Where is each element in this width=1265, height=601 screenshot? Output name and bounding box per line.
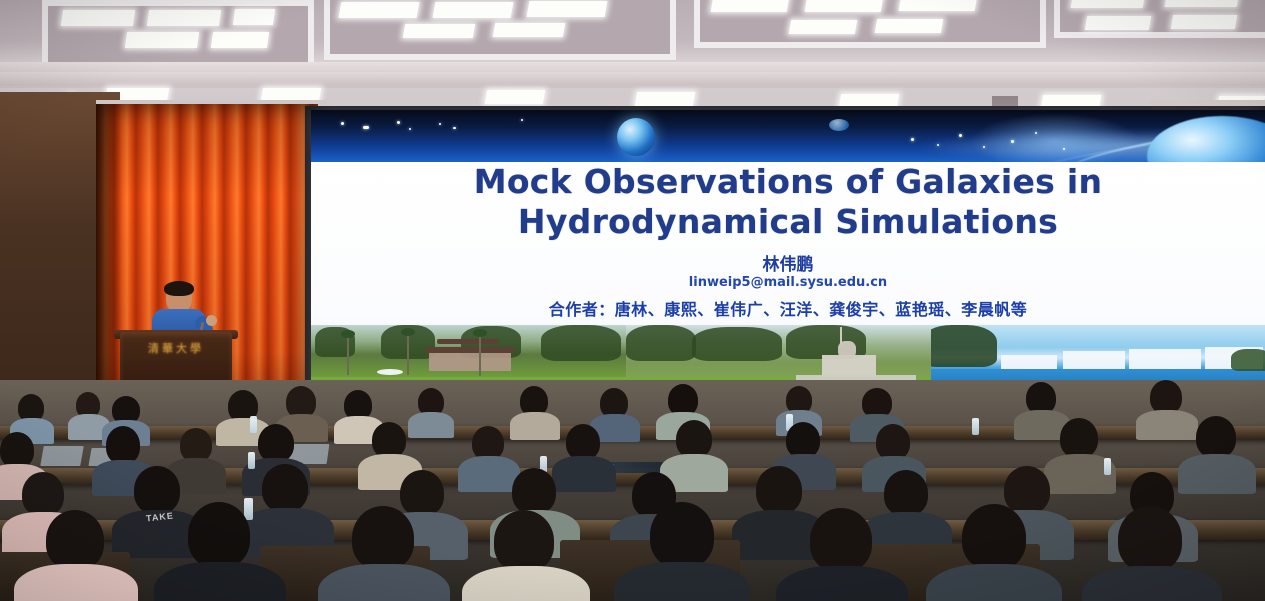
ceiling-light-panel	[711, 0, 790, 12]
head	[22, 472, 64, 516]
ceiling-beam	[0, 72, 1265, 88]
head	[650, 502, 714, 568]
head	[262, 464, 308, 512]
slide-title-line1: Mock Observations of Galaxies in	[311, 162, 1265, 202]
star-icon	[1035, 132, 1037, 134]
star-icon	[1063, 148, 1065, 150]
head	[106, 426, 140, 464]
shoulders	[14, 564, 138, 601]
shoulders	[926, 564, 1062, 601]
head	[258, 424, 294, 462]
podium-university-label: 清華大學	[120, 340, 232, 356]
star-icon	[363, 126, 369, 129]
ceiling-light-panel	[1171, 15, 1237, 29]
ceiling-light-panel	[1165, 0, 1240, 7]
head	[372, 422, 406, 458]
head	[1196, 416, 1236, 458]
lecture-hall-photo: 清華大學 Mock Ob	[0, 0, 1265, 601]
star-icon	[937, 144, 939, 146]
ceiling-light-panel	[1085, 16, 1151, 30]
ceiling-light-panel	[403, 24, 475, 38]
palm-trunk	[407, 331, 409, 375]
laptop	[40, 446, 84, 466]
shoulders	[458, 456, 520, 492]
head	[756, 466, 802, 514]
tree	[692, 327, 782, 361]
ceiling-light-panel	[125, 32, 199, 48]
shoulders	[1178, 454, 1256, 494]
shoulders	[552, 456, 616, 492]
plaza-marker	[377, 369, 403, 375]
water-bottle	[1104, 458, 1111, 475]
slide-title-line2: Hydrodynamical Simulations	[311, 202, 1265, 242]
ceiling-light-panel	[233, 9, 275, 25]
shoulders	[318, 564, 450, 601]
ceiling-light-panel	[493, 23, 565, 37]
palm-crown	[401, 328, 415, 336]
ceiling-light-panel	[789, 20, 857, 34]
palm-trunk	[347, 333, 349, 375]
head	[676, 420, 712, 458]
lakeside-building	[1129, 349, 1201, 369]
flagpole	[840, 327, 842, 345]
head	[786, 422, 820, 458]
head	[0, 432, 34, 468]
star-icon	[983, 146, 985, 148]
star-icon	[959, 134, 962, 137]
star-icon	[341, 122, 344, 125]
palm-crown	[473, 329, 487, 337]
head	[1150, 380, 1182, 414]
star-icon	[1011, 140, 1014, 143]
ceiling-light-panel	[339, 2, 420, 18]
palm-trunk	[479, 332, 481, 376]
head	[46, 510, 104, 570]
shoulders	[154, 562, 286, 601]
star-icon	[911, 138, 914, 141]
head	[566, 424, 600, 460]
palm-crown	[341, 330, 355, 338]
ceiling	[0, 0, 1265, 108]
ceiling-light-panel	[1071, 0, 1146, 8]
tree	[1231, 349, 1265, 371]
ceiling-light-panel	[61, 10, 135, 26]
blue-planet-icon	[617, 118, 655, 156]
head	[962, 504, 1026, 570]
shoulders	[510, 412, 560, 440]
head	[188, 502, 250, 568]
shoulders	[1082, 566, 1222, 601]
ceiling-light-panel	[875, 19, 943, 33]
head	[400, 470, 444, 516]
shoulders	[408, 412, 454, 438]
shoulders	[614, 562, 750, 601]
ceiling-vent	[992, 96, 1018, 106]
star-icon	[409, 128, 411, 130]
campus-building	[429, 351, 511, 371]
head	[1004, 466, 1050, 514]
speaker-hair	[164, 281, 194, 296]
head	[134, 466, 180, 514]
star-icon	[397, 121, 400, 124]
head	[352, 506, 414, 570]
slide-title: Mock Observations of Galaxies in Hydrody…	[311, 162, 1265, 242]
building-roof	[425, 347, 515, 353]
head	[1118, 506, 1182, 572]
slide-space-banner	[311, 110, 1265, 162]
ringed-planet-icon	[1147, 116, 1265, 162]
head	[1060, 418, 1098, 458]
star-icon	[453, 127, 456, 129]
head	[180, 428, 212, 462]
ceiling-light-panel	[433, 2, 514, 18]
tree	[931, 325, 997, 367]
star-icon	[521, 119, 523, 121]
tree	[541, 325, 621, 361]
audience-area: TAKE	[0, 380, 1265, 601]
head	[494, 510, 554, 572]
ceiling-light-panel	[527, 1, 608, 17]
head	[512, 468, 556, 514]
ceiling-light-panel	[805, 0, 884, 12]
ceiling-light-panel	[147, 10, 221, 26]
slide-author: 林伟鹏	[311, 250, 1265, 275]
ceiling-light-panel	[485, 90, 545, 104]
small-planet-icon	[829, 119, 849, 131]
ceiling-light-panel	[211, 32, 269, 48]
water-bottle	[972, 418, 979, 435]
head	[472, 426, 504, 460]
speaker-hand	[206, 315, 217, 326]
tree	[626, 325, 696, 361]
water-bottle	[250, 416, 257, 433]
head	[876, 424, 910, 460]
shoulders	[462, 566, 590, 601]
star-icon	[439, 123, 441, 125]
slide-collaborators: 合作者：唐林、康熙、崔伟广、汪洋、龚俊宇、蓝艳瑶、李晨帆等	[311, 296, 1265, 320]
shoulders	[1136, 410, 1198, 440]
building-roof	[437, 339, 499, 344]
head	[884, 470, 928, 516]
ceiling-light-panel	[899, 0, 978, 11]
water-bottle	[248, 452, 255, 469]
slide-email: linweip5@mail.sysu.edu.cn	[311, 275, 1265, 290]
ceiling-light-panel	[635, 92, 695, 106]
lakeside-building	[1063, 351, 1125, 369]
lakeside-building	[1001, 355, 1057, 369]
head	[810, 508, 872, 572]
